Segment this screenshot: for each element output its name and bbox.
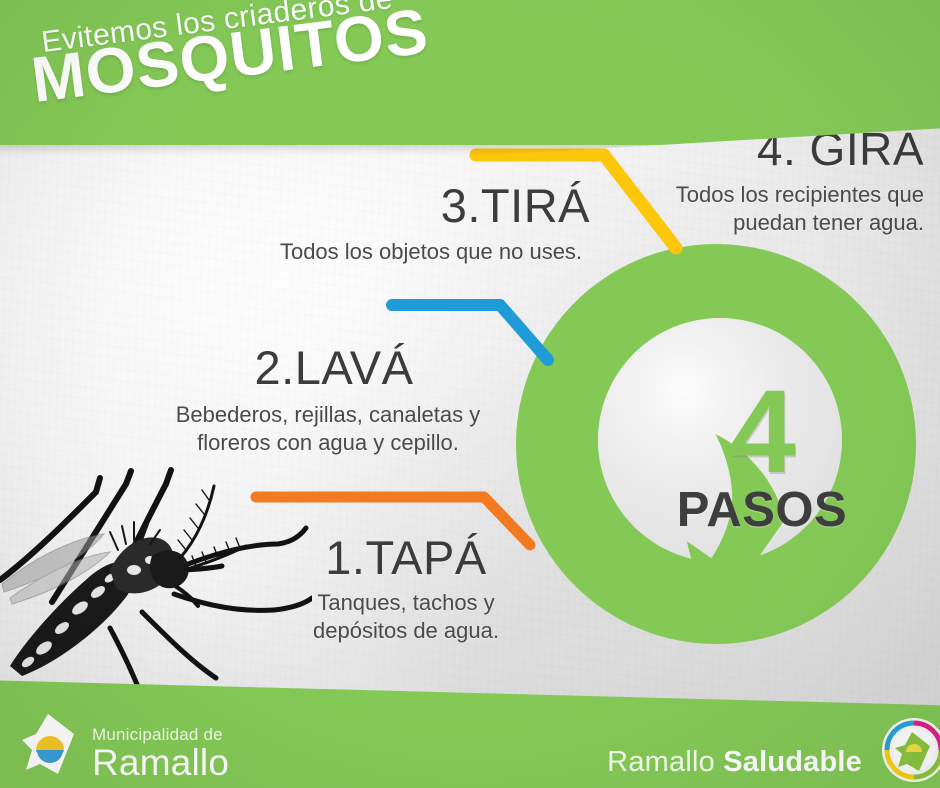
municipality-line-2: Ramallo [92,744,229,781]
brand-ramallo-saludable: Ramallo Saludable [607,746,862,779]
step-1-title: 1.TAPÁ [266,534,546,581]
badge-text-group: 4 PASOS [542,238,940,678]
badge-number: 4 [730,381,794,485]
step-2-title: 2.LAVÁ [128,344,528,391]
four-steps-badge: 4 PASOS [496,244,936,684]
step-2: 2.LAVÁ Bebederos, rejillas, canaletas y … [128,344,528,456]
step-3-desc: Todos los objetos que no uses. [246,238,616,266]
infographic-poster: 4 PASOS 4. GIRÁ Todos los recipientes qu… [0,0,940,788]
municipality-logo-icon [18,712,86,778]
municipality-line-1: Municipalidad de [92,726,229,743]
municipality-text: Municipalidad de Ramallo [92,726,229,781]
step-3-title: 3.TIRÁ [246,182,616,229]
step-3: 3.TIRÁ Todos los objetos que no uses. [246,182,616,266]
step-2-desc: Bebederos, rejillas, canaletas y florero… [128,401,528,456]
header-text-group: Evitemos los criaderos de MOSQUITOS [0,0,940,145]
brand-word-light: Ramallo [607,746,723,778]
step-1: 1.TAPÁ Tanques, tachos y depósitos de ag… [266,534,546,644]
step-1-desc: Tanques, tachos y depósitos de agua. [266,589,546,644]
step-4-desc: Todos los recipientes que puedan tener a… [584,181,924,236]
header-band: Evitemos los criaderos de MOSQUITOS [0,0,940,145]
brand-word-bold: Saludable [723,746,862,778]
ramallo-saludable-logo-icon [878,714,940,786]
badge-label: PASOS [677,486,847,535]
